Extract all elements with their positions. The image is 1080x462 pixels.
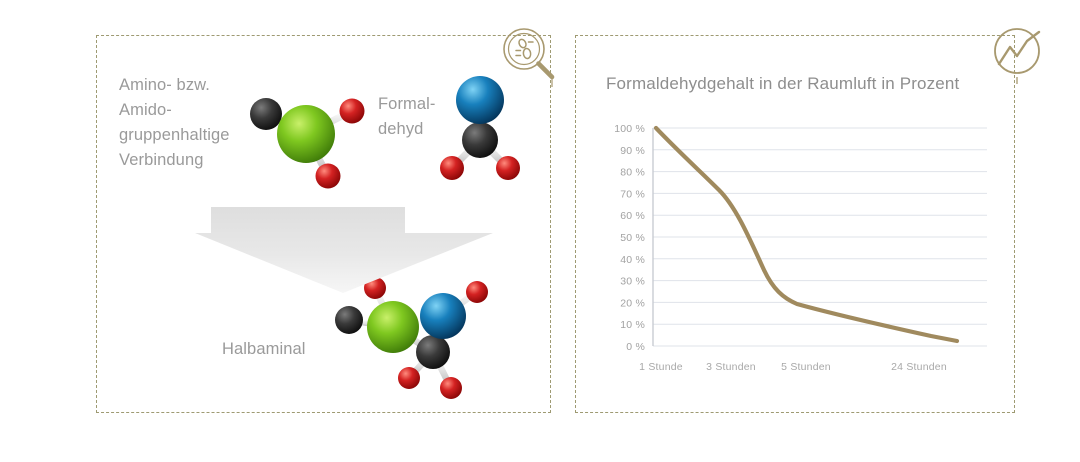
x-tick-label: 1 Stunde <box>639 361 683 373</box>
formaldehyde-decay-line-chart: 100 % 90 % 80 % 70 % 60 % 50 % 40 % 30 %… <box>601 122 997 387</box>
chart-series-formaldehyde <box>656 128 957 341</box>
y-tick-label: 80 % <box>620 167 645 179</box>
chart-title: Formaldehydgehalt in der Raumluft in Pro… <box>606 74 959 94</box>
y-tick-label: 90 % <box>620 145 645 157</box>
x-tick-label: 3 Stunden <box>706 361 756 373</box>
y-tick-label: 20 % <box>620 297 645 309</box>
y-tick-label: 60 % <box>620 210 645 222</box>
x-tick-label: 24 Stunden <box>891 361 947 373</box>
y-tick-label: 40 % <box>620 254 645 266</box>
amino-compound-molecule <box>236 82 376 196</box>
chart-x-tick-labels: 1 Stunde 3 Stunden 5 Stunden 24 Stunden <box>639 361 947 373</box>
y-tick-label: 10 % <box>620 319 645 331</box>
chart-gridlines <box>653 128 987 346</box>
page-root: Amino- bzw. Amido- gruppenhaltige Verbin… <box>0 0 1080 462</box>
magnifier-molecules-icon <box>497 22 565 90</box>
y-tick-label: 30 % <box>620 276 645 288</box>
y-tick-label: 50 % <box>620 232 645 244</box>
x-tick-label: 5 Stunden <box>781 361 831 373</box>
trend-chart-circle-icon <box>986 20 1054 88</box>
y-tick-label: 100 % <box>614 123 645 135</box>
chart-y-tick-labels: 100 % 90 % 80 % 70 % 60 % 50 % 40 % 30 %… <box>614 123 645 353</box>
y-tick-label: 0 % <box>626 341 645 353</box>
downward-reaction-arrow <box>193 205 498 295</box>
y-tick-label: 70 % <box>620 188 645 200</box>
